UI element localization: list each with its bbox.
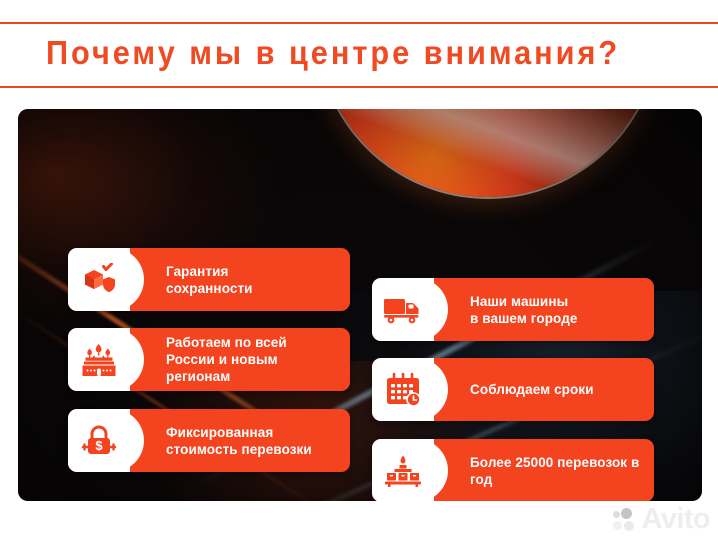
features-panel: Гарантия сохранности [18, 109, 702, 501]
page-title: Почему мы в центре внимания? [46, 31, 620, 75]
slide-root: Почему мы в центре внимания? [0, 0, 718, 540]
feature-label: Фиксированная стоимость перевозки [166, 424, 312, 458]
feature-card-fixed-price[interactable]: $ Фиксированная стоимость перевозки [68, 409, 350, 472]
feature-label: Наши машины в вашем городе [470, 293, 577, 327]
truck-icon [372, 278, 434, 341]
feature-card-volume[interactable]: Более 25000 перевозок в год [372, 439, 654, 501]
feature-label: Более 25000 перевозок в год [470, 454, 639, 488]
feature-label: Работаем по всей России и новым регионам [166, 334, 336, 385]
avito-watermark-text: Avito [642, 505, 710, 534]
svg-text:$: $ [95, 438, 103, 453]
feature-card-guarantee[interactable]: Гарантия сохранности [68, 248, 350, 311]
feature-card-fleet[interactable]: Наши машины в вашем городе [372, 278, 654, 341]
kremlin-cathedral-icon [68, 328, 130, 391]
box-check-shield-icon [68, 248, 130, 311]
avito-watermark: Avito [613, 505, 710, 534]
avito-dots-logo-icon [613, 508, 637, 532]
feature-card-deadlines[interactable]: Соблюдаем сроки [372, 358, 654, 421]
header-rule-bottom [0, 86, 718, 88]
lock-dollar-icon: $ [68, 409, 130, 472]
calendar-clock-icon [372, 358, 434, 421]
feature-label: Соблюдаем сроки [470, 381, 594, 398]
header-rule-top [0, 22, 718, 24]
cargo-stack-icon [372, 439, 434, 501]
feature-label: Гарантия сохранности [166, 263, 253, 297]
feature-card-coverage[interactable]: Работаем по всей России и новым регионам [68, 328, 350, 391]
